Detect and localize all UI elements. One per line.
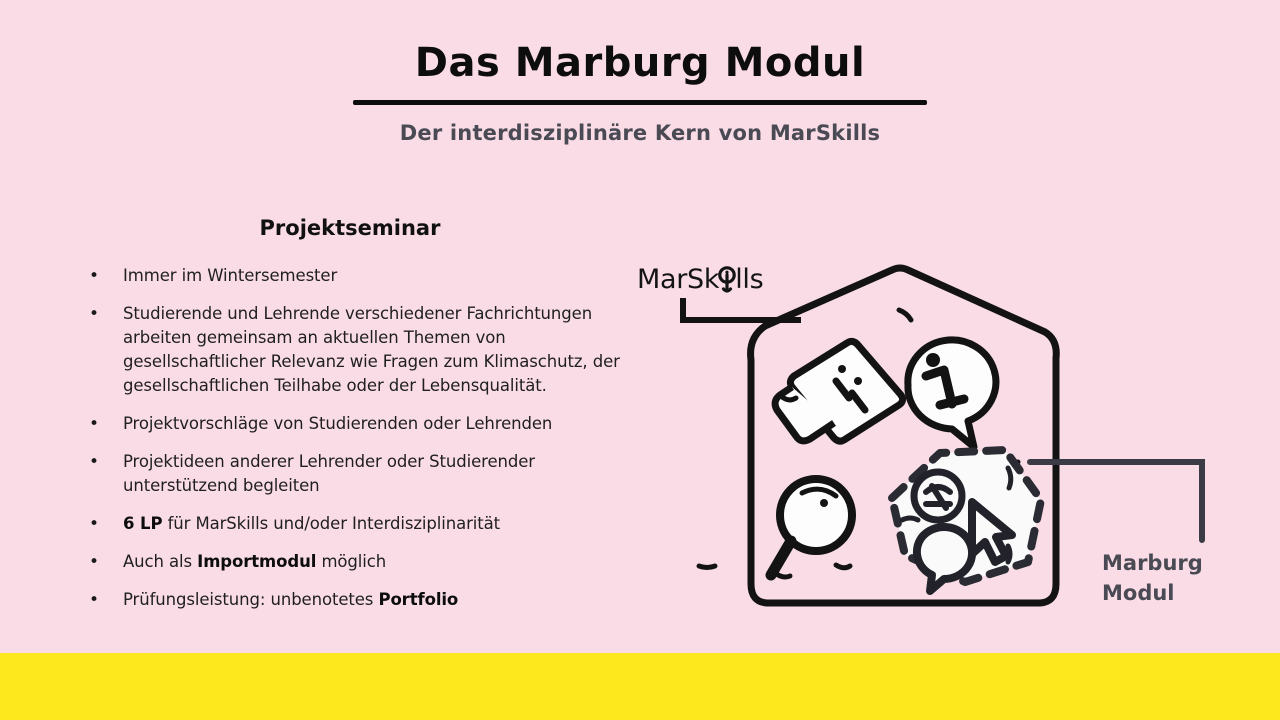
bullet-span: für MarSkills und/oder Interdisziplinari… xyxy=(162,514,500,533)
bullet-text: Studierende und Lehrende verschiedener F… xyxy=(123,302,624,398)
bullet-text: Projektvorschläge von Studierenden oder … xyxy=(123,412,624,436)
bullet-marker: • xyxy=(84,450,123,474)
page-title: Das Marburg Modul xyxy=(0,40,1280,86)
magnifier-icon xyxy=(771,479,852,575)
bullet-text: Auch als Importmodul möglich xyxy=(123,550,624,574)
bullet-text: Immer im Wintersemester xyxy=(123,264,624,288)
bullet-marker: • xyxy=(84,264,123,288)
section-heading: Projektseminar xyxy=(140,216,560,240)
slide-canvas: Das Marburg Modul Der interdisziplinäre … xyxy=(0,0,1280,720)
footer-bar xyxy=(0,653,1280,720)
bullet-list: •Immer im Wintersemester•Studierende und… xyxy=(84,264,624,626)
bullet-emphasis: Importmodul xyxy=(197,552,316,571)
bullet-text: Projektideen anderer Lehrender oder Stud… xyxy=(123,450,624,498)
lightbulb-icon xyxy=(718,266,736,294)
bullet-span: Prüfungsleistung: unbenotetes xyxy=(123,590,378,609)
bullet-marker: • xyxy=(84,412,123,436)
bullet-item-projektvorschlaege: •Projektvorschläge von Studierenden oder… xyxy=(84,412,624,436)
marburg-modul-label: Marburg Modul xyxy=(1102,548,1203,608)
marburg-modul-label-line1: Marburg xyxy=(1102,548,1203,578)
bullet-span: Projektvorschläge von Studierenden oder … xyxy=(123,414,552,433)
title-underline xyxy=(353,100,927,105)
bullet-span: möglich xyxy=(316,552,386,571)
marburg-modul-label-line2: Modul xyxy=(1102,578,1203,608)
bullet-text: Prüfungsleistung: unbenotetes Portfolio xyxy=(123,588,624,612)
dashed-hexagon xyxy=(892,450,1041,591)
bullet-text: 6 LP für MarSkills und/oder Interdiszipl… xyxy=(123,512,624,536)
marskills-wordmark: MarSk lls xyxy=(637,264,763,295)
info-bubble-icon xyxy=(908,340,996,447)
bullet-item-wintersemester: •Immer im Wintersemester xyxy=(84,264,624,288)
bullet-marker: • xyxy=(84,588,123,612)
bullet-item-importmodul: •Auch als Importmodul möglich xyxy=(84,550,624,574)
bullet-marker: • xyxy=(84,512,123,536)
bullet-span: Auch als xyxy=(123,552,197,571)
bullet-emphasis: 6 LP xyxy=(123,514,162,533)
bullet-span: Projektideen anderer Lehrender oder Stud… xyxy=(123,452,535,495)
bullet-span: Immer im Wintersemester xyxy=(123,266,337,285)
marskills-text-before: MarSk xyxy=(637,264,719,295)
bullet-emphasis: Portfolio xyxy=(378,590,458,609)
page-subtitle: Der interdisziplinäre Kern von MarSkills xyxy=(0,121,1280,145)
bullet-item-leistungspunkte: •6 LP für MarSkills und/oder Interdiszip… xyxy=(84,512,624,536)
bullet-item-projektideen: •Projektideen anderer Lehrender oder Stu… xyxy=(84,450,624,498)
marskills-text-after: lls xyxy=(735,264,763,295)
bullet-marker: • xyxy=(84,550,123,574)
bullet-marker: • xyxy=(84,302,123,326)
bullet-item-interdisziplinaer: •Studierende und Lehrende verschiedener … xyxy=(84,302,624,398)
book-icon xyxy=(775,341,903,441)
bullet-span: Studierende und Lehrende verschiedener F… xyxy=(123,304,620,395)
bullet-item-pruefungsleistung: •Prüfungsleistung: unbenotetes Portfolio xyxy=(84,588,624,612)
